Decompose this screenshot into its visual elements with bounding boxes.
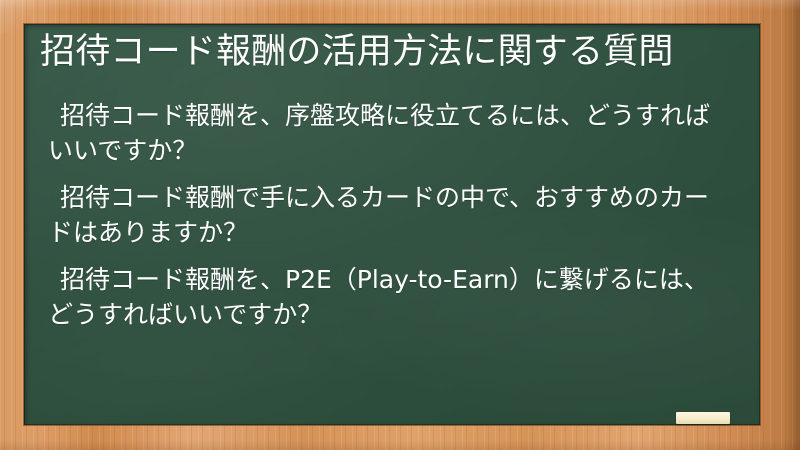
list-item: 招待コード報酬を、P2E（Play-to-Earn）に繋げるには、どうすればいい… — [32, 262, 746, 333]
chalk-stick-icon — [676, 412, 730, 424]
list-item: 招待コード報酬を、序盤攻略に役立てるには、どうすればいいですか？ — [32, 98, 746, 169]
question-list: 招待コード報酬を、序盤攻略に役立てるには、どうすればいいですか？ 招待コード報酬… — [32, 98, 746, 333]
list-item: 招待コード報酬で手に入るカードの中で、おすすめのカードはありますか？ — [32, 180, 746, 251]
chalkboard-slide: 招待コード報酬の活用方法に関する質問 招待コード報酬を、序盤攻略に役立てるには、… — [0, 0, 800, 450]
page-title: 招待コード報酬の活用方法に関する質問 — [32, 28, 746, 76]
slide-content: 招待コード報酬の活用方法に関する質問 招待コード報酬を、序盤攻略に役立てるには、… — [24, 24, 760, 425]
chalkboard-surface: 招待コード報酬の活用方法に関する質問 招待コード報酬を、序盤攻略に役立てるには、… — [24, 24, 760, 425]
